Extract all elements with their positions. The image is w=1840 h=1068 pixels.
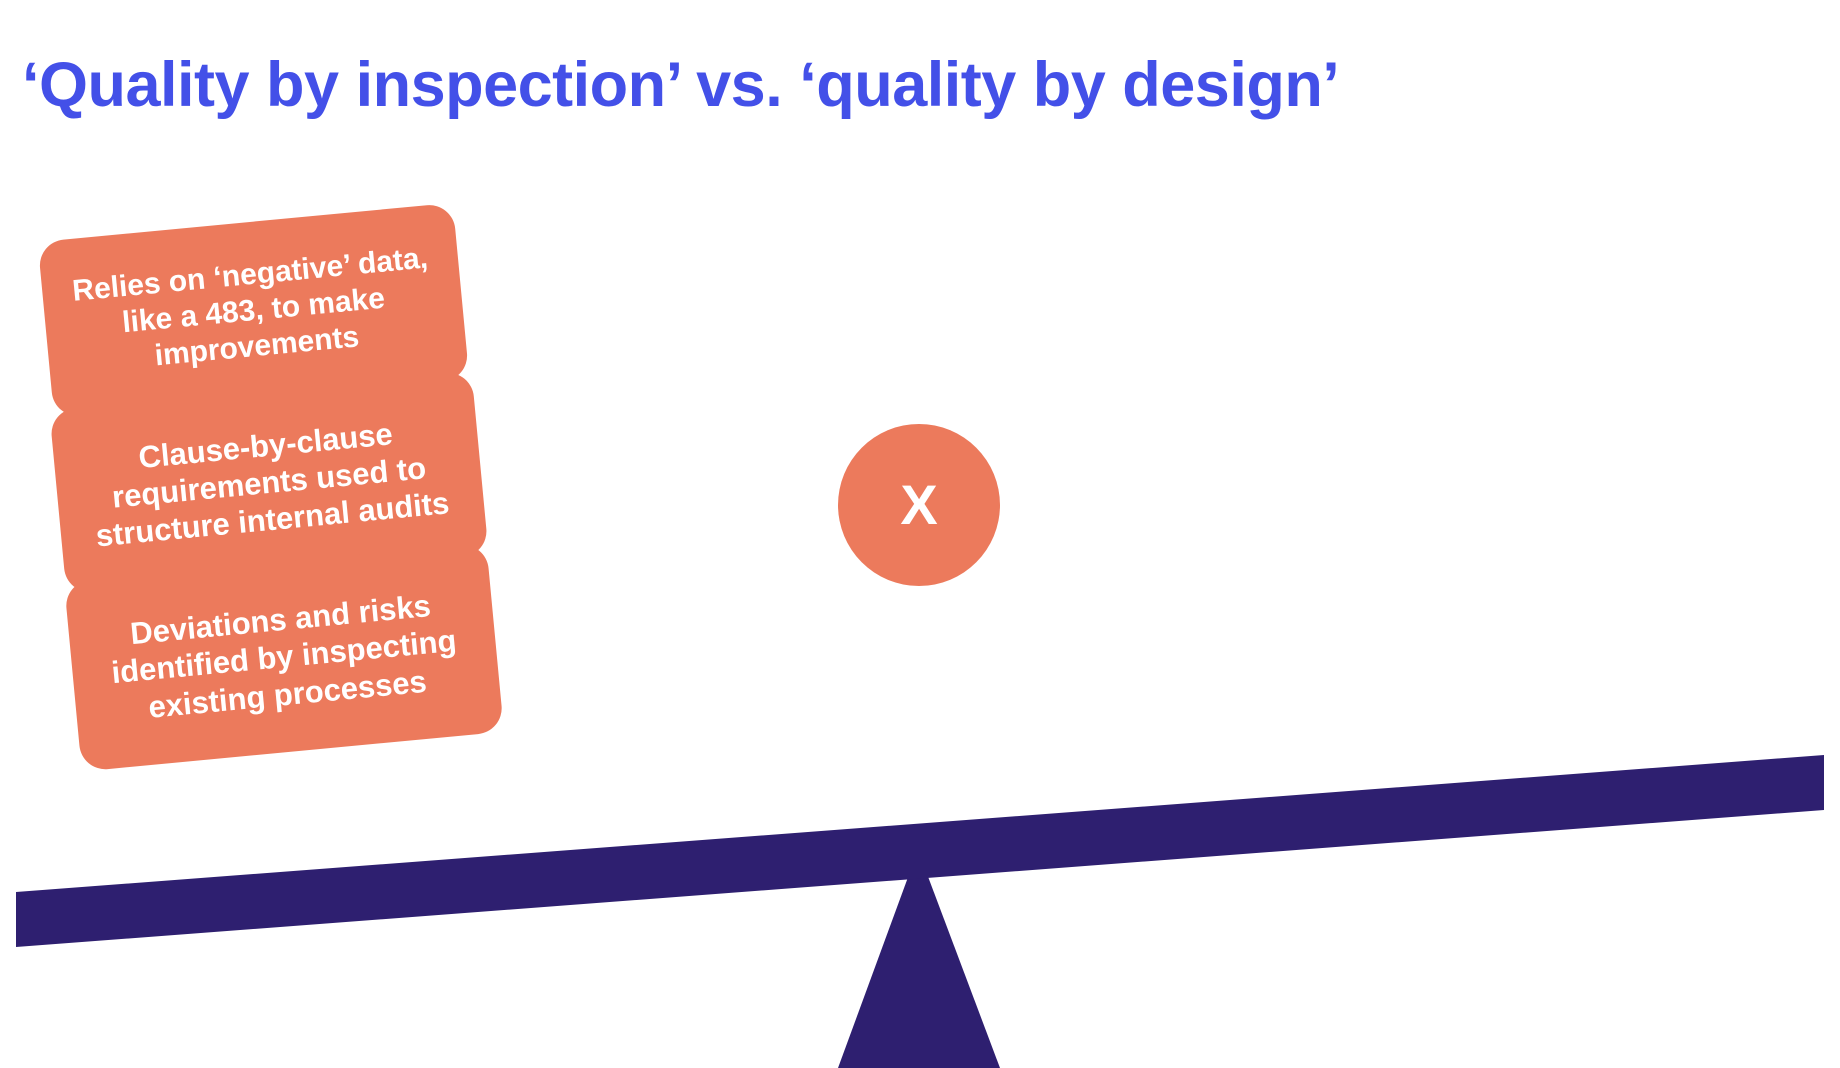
page-title: ‘Quality by inspection’ vs. ‘quality by …	[22, 48, 1782, 122]
card-text: Relies on ‘negative’ data, like a 483, t…	[67, 240, 441, 382]
slide-canvas: ‘Quality by inspection’ vs. ‘quality by …	[0, 0, 1840, 1068]
balance-scale-graphic	[0, 700, 1840, 1068]
fulcrum-triangle	[838, 850, 1000, 1068]
x-badge: X	[838, 424, 1000, 586]
balance-beam	[16, 755, 1824, 947]
card-text: Deviations and risks identified by inspe…	[94, 584, 475, 730]
x-icon: X	[900, 477, 937, 533]
card-text: Clause-by-clause requirements used to st…	[79, 409, 460, 555]
list-item: Deviations and risks identified by inspe…	[64, 542, 504, 771]
